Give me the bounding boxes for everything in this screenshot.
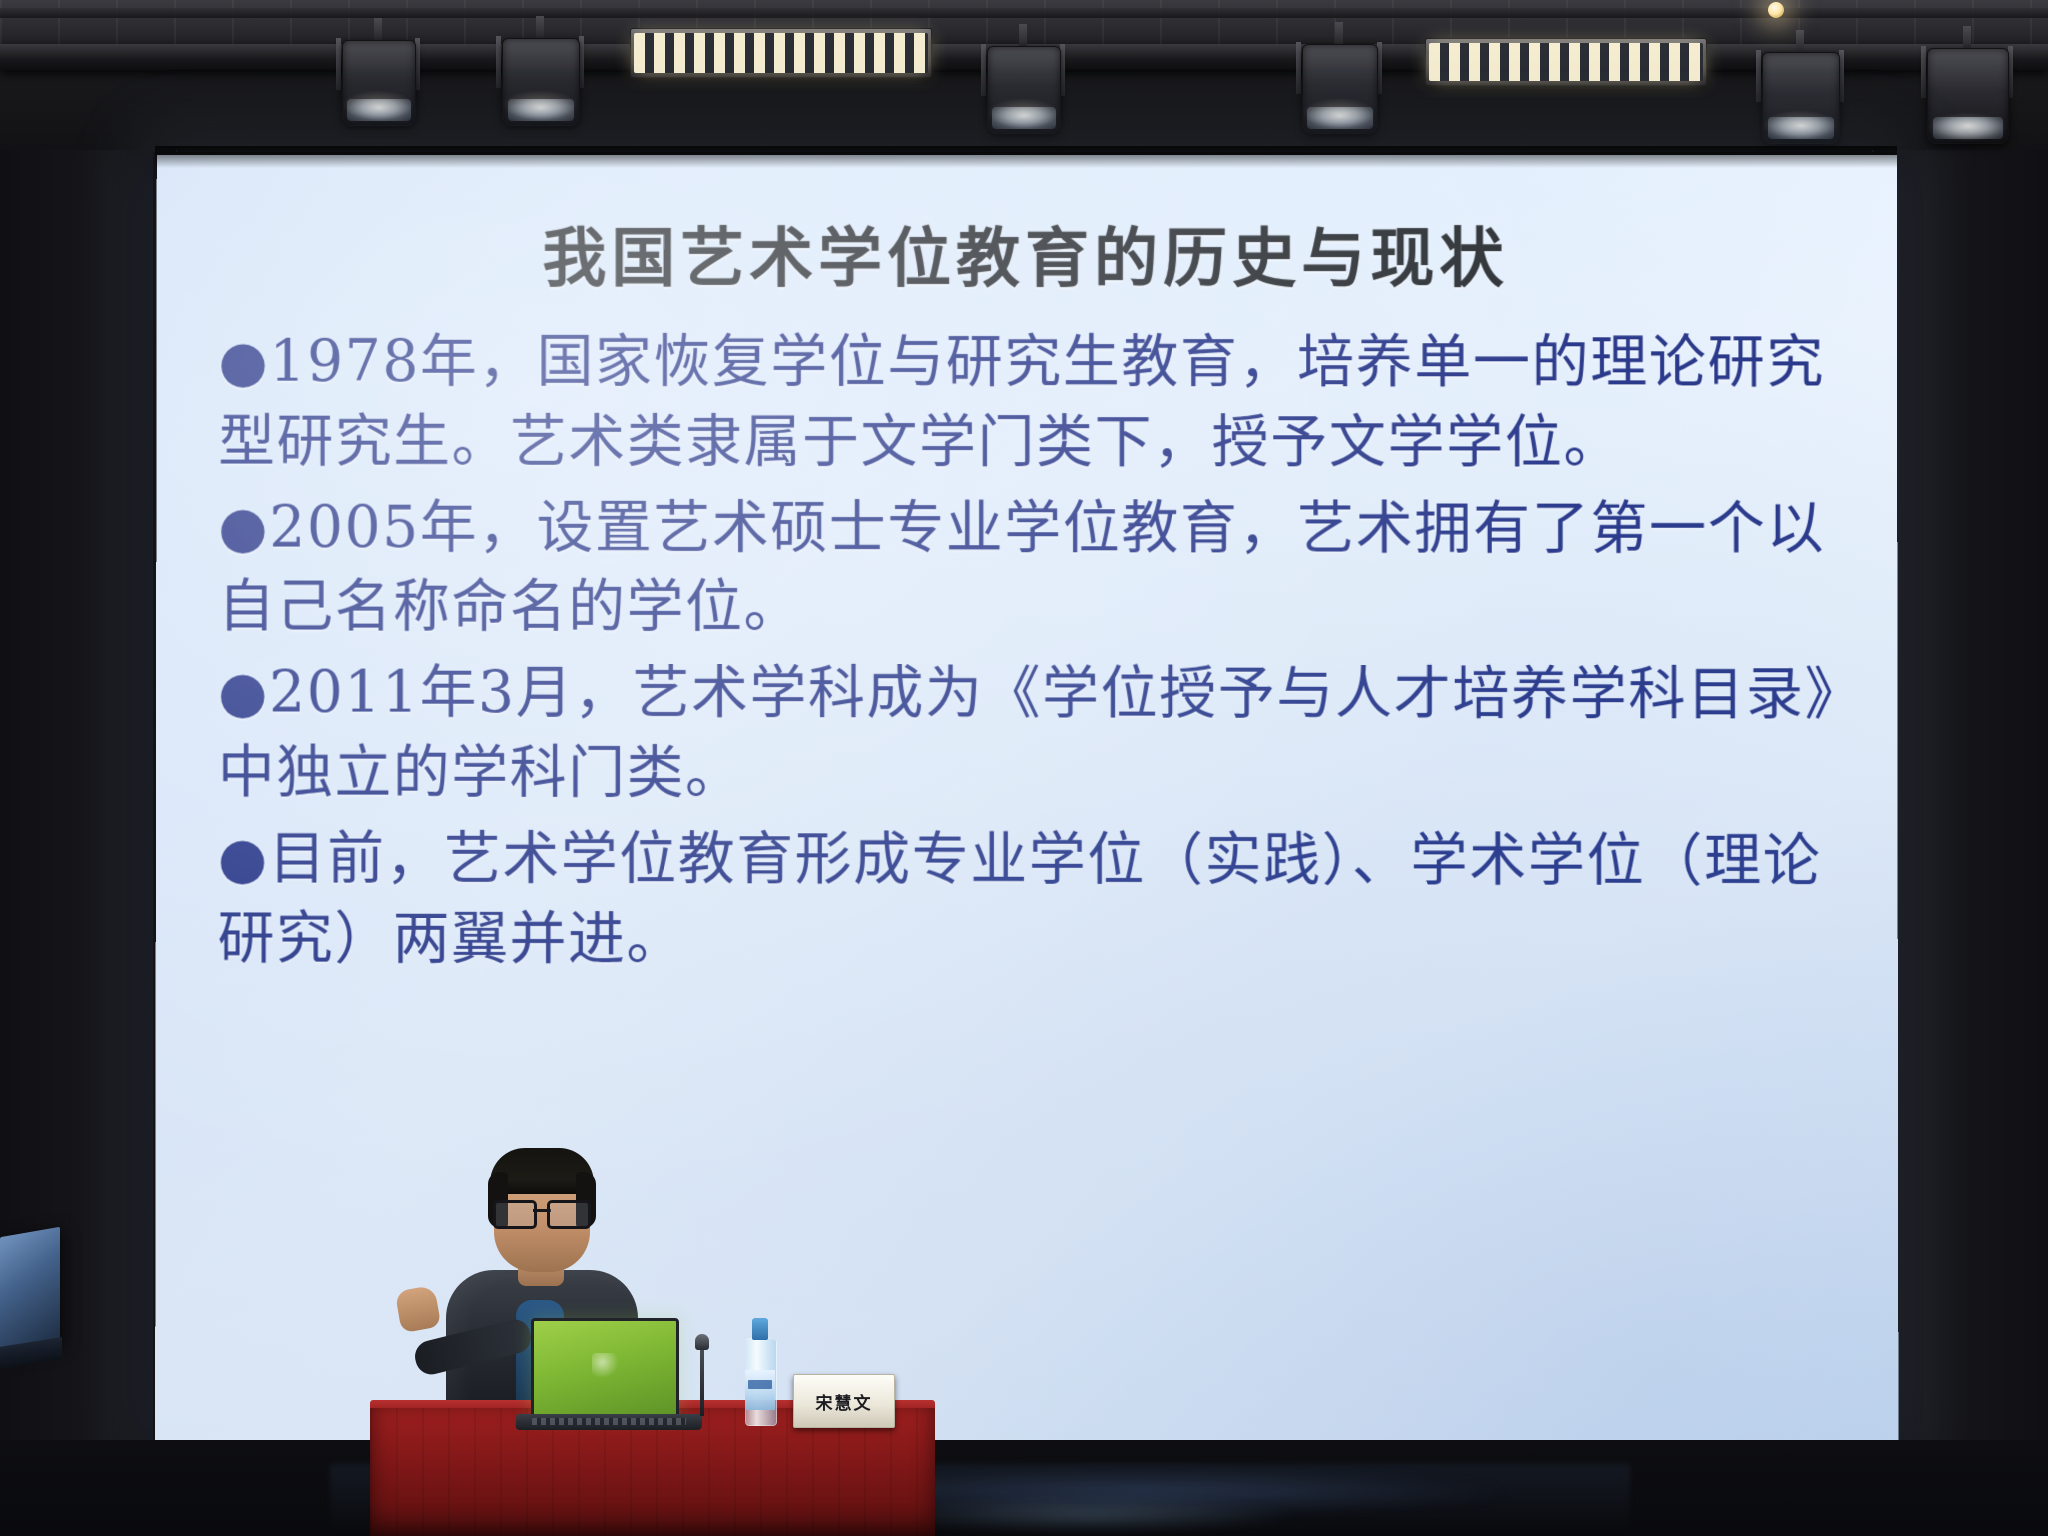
ceiling-rail-upper: [0, 8, 2048, 18]
desk-microphone: [700, 1344, 704, 1416]
led-bar-light: [1425, 38, 1707, 86]
par-can-spotlight: [1925, 26, 2009, 152]
slide-bullet: ●2005年，设置艺术硕士专业学位教育，艺术拥有了第一个以自己名称命名的学位。: [218, 488, 1857, 649]
auditorium-scene: 我国艺术学位教育的历史与现状 ●1978年，国家恢复学位与研究生教育，培养单一的…: [0, 0, 2048, 1536]
foreground-panel: [0, 1227, 60, 1356]
ceiling-lamp: [1768, 2, 1784, 18]
par-can-spotlight: [1300, 22, 1378, 142]
glasses-icon: [492, 1200, 592, 1224]
name-plate-text: 宋慧文: [816, 1389, 873, 1414]
laptop-screen: [531, 1318, 679, 1418]
led-bar-light: [630, 28, 932, 78]
projection-screen: 我国艺术学位教育的历史与现状 ●1978年，国家恢复学位与研究生教育，培养单一的…: [155, 155, 1898, 1460]
slide-title: 我国艺术学位教育的历史与现状: [157, 207, 1897, 299]
presenter-hand: [395, 1285, 442, 1333]
slide-bullet: ●目前，艺术学位教育形成专业学位（实践）、学术学位（理论研究）两翼并进。: [218, 819, 1858, 982]
screen-top-shadow: [155, 146, 1897, 168]
par-can-spotlight: [985, 24, 1061, 144]
presentation-slide: 我国艺术学位教育的历史与现状 ●1978年，国家恢复学位与研究生教育，培养单一的…: [155, 155, 1898, 1460]
name-plate: 宋慧文: [793, 1374, 895, 1428]
par-can-spotlight: [1760, 30, 1840, 152]
floor-reflection-hotspot: [880, 1498, 1300, 1532]
slide-bullet: ●1978年，国家恢复学位与研究生教育，培养单一的理论研究型研究生。艺术类隶属于…: [218, 323, 1857, 484]
laptop-keyboard: [516, 1414, 703, 1430]
water-bottle: [745, 1318, 775, 1426]
slide-body: ●1978年，国家恢复学位与研究生教育，培养单一的理论研究型研究生。艺术类隶属于…: [218, 323, 1858, 988]
par-can-spotlight: [340, 18, 416, 138]
slide-bullet: ●2011年3月，艺术学科成为《学位授予与人才培养学科目录》中独立的学科门类。: [218, 654, 1858, 816]
par-can-spotlight: [500, 16, 580, 136]
